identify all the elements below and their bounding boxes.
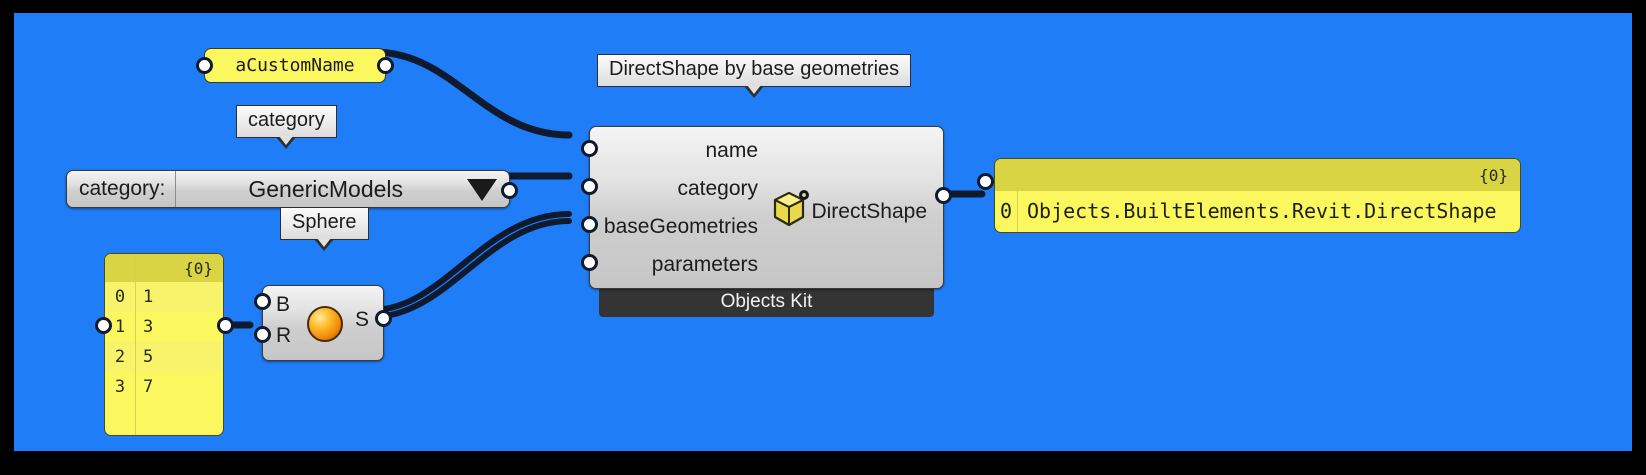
objects-kit-label: Objects Kit [721,291,813,313]
yellow-cube-icon [770,189,810,229]
numbers-panel-input-port[interactable] [95,317,112,334]
custom-name-input-port[interactable] [196,57,213,74]
bubble-tail-icon [314,239,334,251]
wire-sphere-to-basegeometries-a [372,214,569,310]
bubble-tail-icon [276,137,296,149]
list-item: 1 3 [105,312,223,342]
category-value-list-node[interactable]: category: GenericModels [66,170,510,208]
wire-customname-to-name [374,52,569,135]
sphere-node[interactable]: B R S [262,285,384,361]
output-panel-header: {0} [995,159,1520,191]
row-value: 3 [135,317,153,337]
directshape-output-label: DirectShape [811,200,927,224]
sphere-output-s-port[interactable] [375,310,392,327]
row-value: Objects.BuiltElements.Revit.DirectShape [1017,199,1497,223]
list-item: 2 5 [105,342,223,372]
bubble-sphere-label: Sphere [292,211,357,233]
directshape-input-name-port[interactable] [581,140,598,157]
output-panel-input-port[interactable] [977,173,994,190]
panel-gutter-divider [1017,159,1018,232]
numbers-panel-branch-label: {0} [184,259,213,278]
numbers-panel-header: {0} [105,254,223,282]
sphere-input-b-port[interactable] [254,293,271,310]
directshape-component-node[interactable]: name category baseGeometries parameters … [589,126,944,289]
custom-name-panel[interactable]: aCustomName [204,48,386,83]
row-index: 2 [105,347,135,367]
sphere-input-r-port[interactable] [254,326,271,343]
directshape-input-basegeometries-label: baseGeometries [604,215,758,239]
directshape-input-category-port[interactable] [581,178,598,195]
directshape-output-port[interactable] [935,187,952,204]
sphere-icon [307,306,343,342]
row-value: 7 [135,377,153,397]
directshape-input-labels: name category baseGeometries parameters [590,127,758,288]
directshape-input-parameters-label: parameters [652,253,758,277]
sphere-input-b-label: B [276,293,290,317]
output-panel-branch-label: {0} [1479,166,1508,185]
row-value: 1 [135,287,153,307]
directshape-input-basegeometries-port[interactable] [581,216,598,233]
output-data-panel[interactable]: {0} 0 Objects.BuiltElements.Revit.Direct… [994,158,1521,233]
grasshopper-canvas[interactable]: aCustomName category category: GenericMo… [14,13,1632,451]
row-index: 3 [105,377,135,397]
row-value: 5 [135,347,153,367]
category-output-port[interactable] [501,182,518,199]
list-item: 0 1 [105,282,223,312]
list-item: 0 Objects.BuiltElements.Revit.DirectShap… [995,191,1520,230]
panel-gutter-divider [135,254,136,435]
bubble-category: category [236,105,337,138]
numbers-panel-output-port[interactable] [217,317,234,334]
wire-sphere-to-basegeometries-b [372,221,569,317]
numbers-data-panel[interactable]: {0} 0 1 1 3 2 5 3 7 [104,253,224,436]
objects-kit-footer: Objects Kit [599,287,934,317]
sphere-input-r-label: R [276,324,291,348]
bubble-directshape: DirectShape by base geometries [597,54,911,87]
bubble-category-label: category [248,109,325,131]
row-index: 0 [995,199,1017,223]
directshape-input-name-label: name [705,139,758,163]
directshape-input-parameters-port[interactable] [581,254,598,271]
bubble-directshape-label: DirectShape by base geometries [609,58,899,80]
row-index: 0 [105,287,135,307]
category-node-label: category: [67,171,176,207]
custom-name-value: aCustomName [235,55,354,76]
category-node-value[interactable]: GenericModels [176,171,509,207]
list-item: 3 7 [105,372,223,402]
directshape-input-category-label: category [677,177,758,201]
bubble-tail-icon [744,86,764,98]
sphere-output-s-label: S [355,308,369,332]
chevron-down-icon[interactable] [467,179,497,201]
custom-name-output-port[interactable] [377,57,394,74]
screenshot-root: aCustomName category category: GenericMo… [0,0,1646,475]
bubble-sphere: Sphere [280,207,369,240]
